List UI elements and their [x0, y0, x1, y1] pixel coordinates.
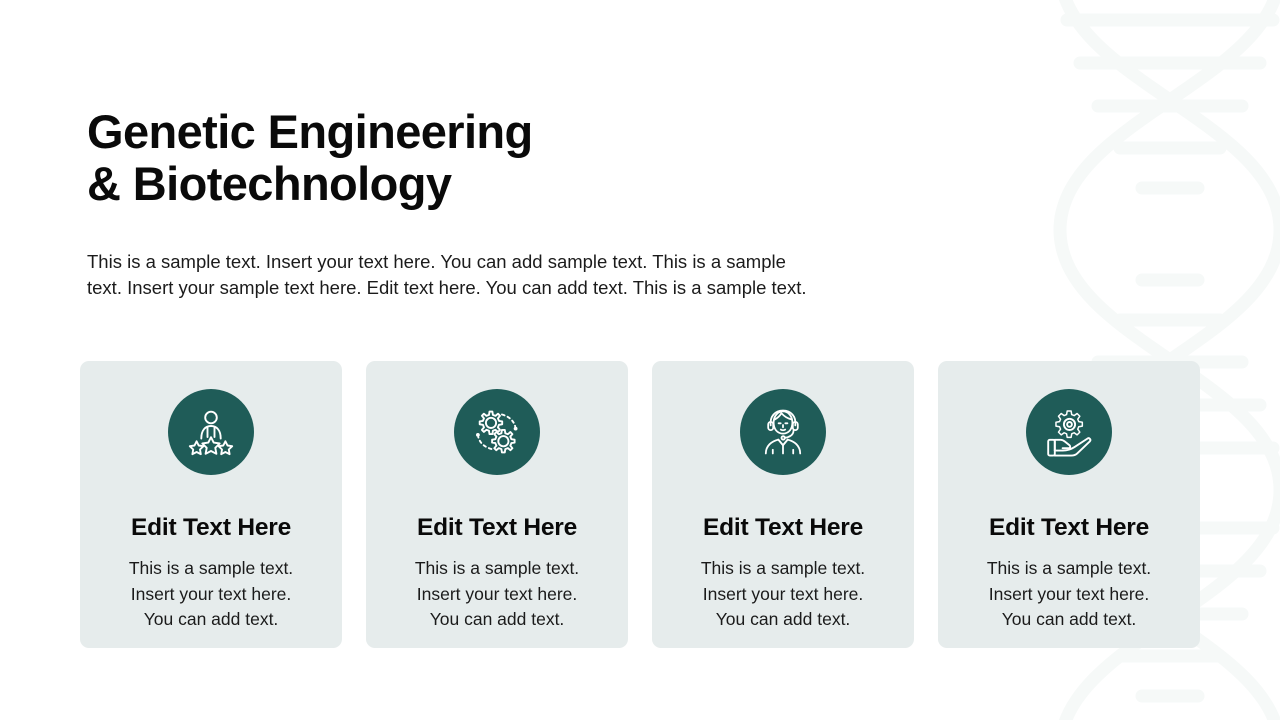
feature-card[interactable]: Edit Text Here This is a sample text. In… — [938, 361, 1200, 648]
card-body-text: This is a sample text. Insert your text … — [129, 542, 293, 633]
feature-card[interactable]: Edit Text Here This is a sample text. In… — [366, 361, 628, 648]
icon-badge — [740, 389, 826, 475]
card-title: Edit Text Here — [703, 475, 863, 542]
icon-badge — [454, 389, 540, 475]
card-row: Edit Text Here This is a sample text. In… — [80, 361, 1200, 648]
hand-holding-gear-icon — [1043, 406, 1095, 458]
card-body-text: This is a sample text. Insert your text … — [987, 542, 1151, 633]
feature-card[interactable]: Edit Text Here This is a sample text. In… — [652, 361, 914, 648]
card-title: Edit Text Here — [131, 475, 291, 542]
gears-icon — [471, 406, 523, 458]
card-body-text: This is a sample text. Insert your text … — [701, 542, 865, 633]
page-title: Genetic Engineering & Biotechnology — [87, 106, 533, 210]
support-agent-headset-icon — [757, 406, 809, 458]
slide-canvas: Genetic Engineering & Biotechnology This… — [0, 0, 1280, 720]
intro-paragraph: This is a sample text. Insert your text … — [87, 249, 917, 300]
card-title: Edit Text Here — [417, 475, 577, 542]
intro-paragraph-text: This is a sample text. Insert your text … — [87, 249, 917, 300]
card-body-text: This is a sample text. Insert your text … — [415, 542, 579, 633]
icon-badge — [1026, 389, 1112, 475]
page-title-text: Genetic Engineering & Biotechnology — [87, 106, 533, 210]
icon-badge — [168, 389, 254, 475]
person-with-stars-icon — [185, 406, 237, 458]
card-title: Edit Text Here — [989, 475, 1149, 542]
feature-card[interactable]: Edit Text Here This is a sample text. In… — [80, 361, 342, 648]
